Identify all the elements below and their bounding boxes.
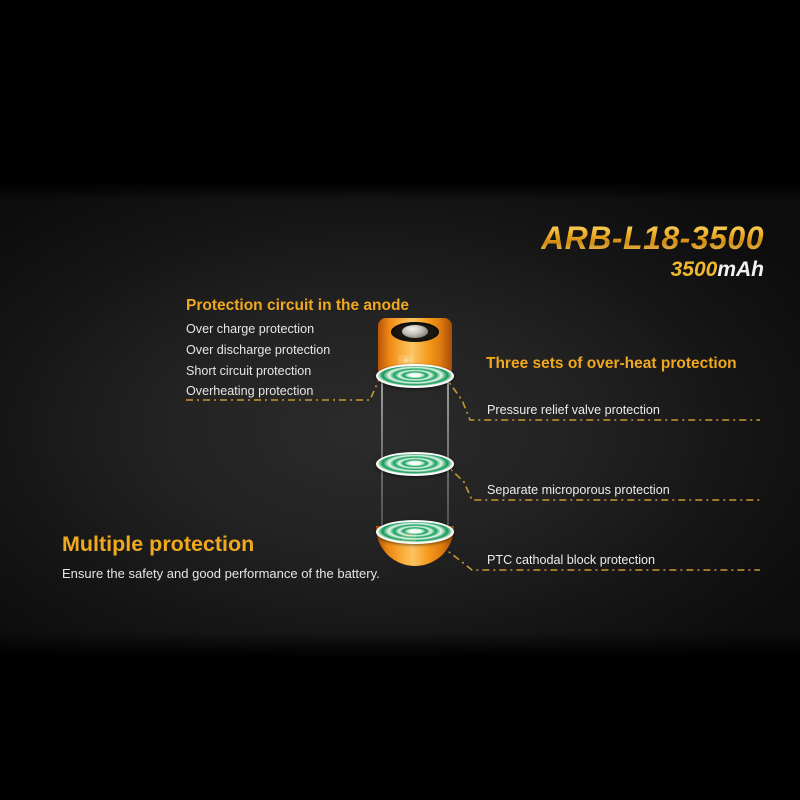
callout-label-separate-microporous: Separate microporous protection [487,483,670,497]
anode-heading: Protection circuit in the anode [186,297,409,315]
list-item: Over charge protection [186,319,330,340]
multiple-protection-subtitle: Ensure the safety and good performance o… [62,566,380,581]
multiple-protection-heading: Multiple protection [62,532,254,557]
list-item: Short circuit protection [186,361,330,382]
page-title: ARB-L18-3500 [541,222,764,256]
capacity-value: 3500 [671,258,718,281]
green-disc-pressure-relief-valve [376,364,454,388]
callout-label-pressure-relief-valve: Pressure relief valve protection [487,403,660,417]
callout-label-ptc-cathodal-block: PTC cathodal block protection [487,553,655,567]
capacity-line: 3500mAh [541,258,764,282]
battery-illustration: + − [370,318,460,566]
overheat-heading: Three sets of over-heat protection [486,355,737,373]
capacity-unit: mAh [717,258,764,281]
green-disc-separate-microporous [376,452,454,476]
list-item: Over discharge protection [186,340,330,361]
product-title-block: ARB-L18-3500 3500mAh [541,222,764,282]
poster-canvas: ARB-L18-3500 3500mAh Protection circuit … [0,0,800,800]
battery-positive-terminal-icon [402,325,428,338]
list-item: Overheating protection [186,381,330,402]
anode-feature-list: Over charge protection Over discharge pr… [186,319,330,402]
minus-icon: − [402,532,416,543]
